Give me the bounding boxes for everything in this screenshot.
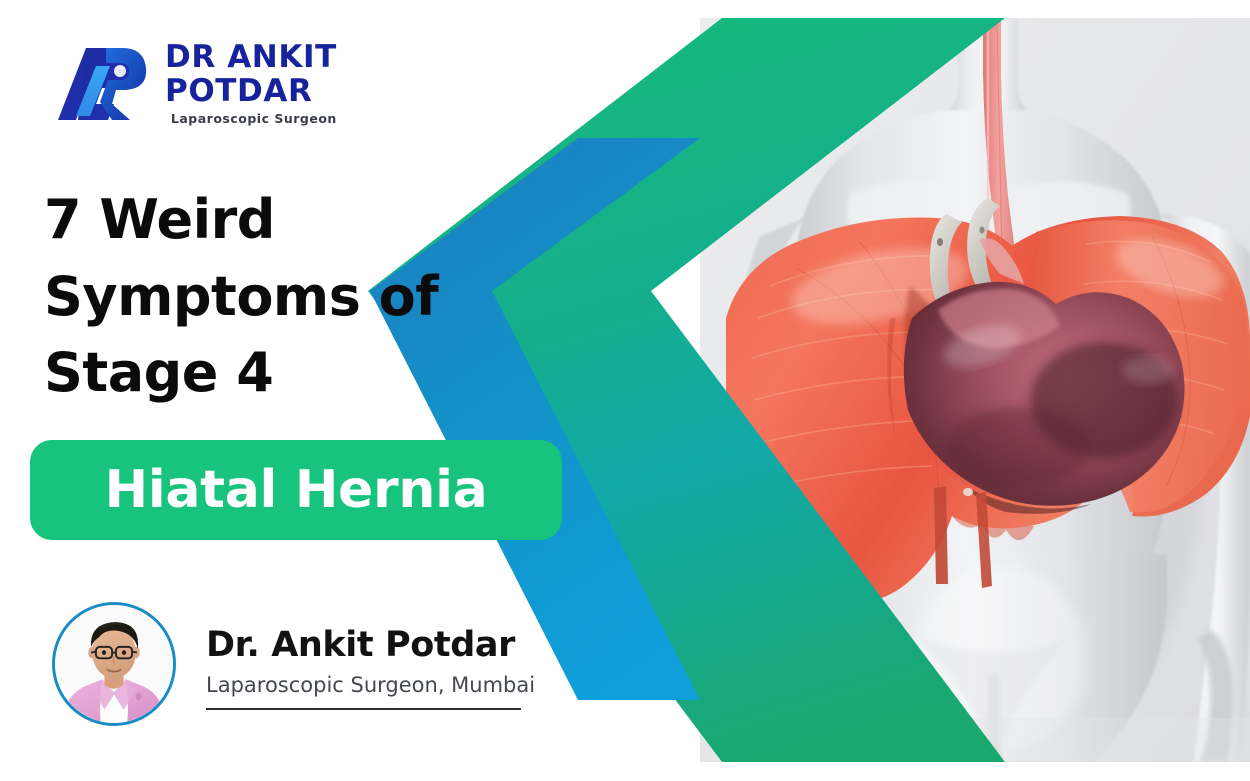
headline-line-2: Symptoms of [44,259,514,336]
hiatal-hernia-anatomy-render [700,18,1250,762]
doctor-portrait-avatar [55,605,173,723]
ap-monogram-logo [56,44,152,124]
doctor-role: Laparoscopic Surgeon, Mumbai [206,674,535,697]
condition-badge-label: Hiatal Hernia [105,460,488,520]
logo-line-2: POTDAR [165,76,337,107]
headline: 7 Weird Symptoms of Stage 4 [44,182,514,412]
doctor-credit: Dr. Ankit Potdar Laparoscopic Surgeon, M… [52,602,535,726]
headline-line-1: 7 Weird [44,182,514,259]
thumbnail-canvas: DR ANKIT POTDAR Laparoscopic Surgeon 7 W… [0,0,1250,781]
logo-line-1: DR ANKIT [165,42,337,73]
condition-badge: Hiatal Hernia [30,440,562,540]
brand-logo: DR ANKIT POTDAR Laparoscopic Surgeon [56,42,337,126]
logo-tagline: Laparoscopic Surgeon [171,113,337,126]
headline-line-3: Stage 4 [44,335,514,412]
doctor-name: Dr. Ankit Potdar [206,626,535,665]
doctor-avatar [52,602,176,726]
credit-divider [206,708,521,710]
anatomy-photo-panel [700,18,1250,762]
